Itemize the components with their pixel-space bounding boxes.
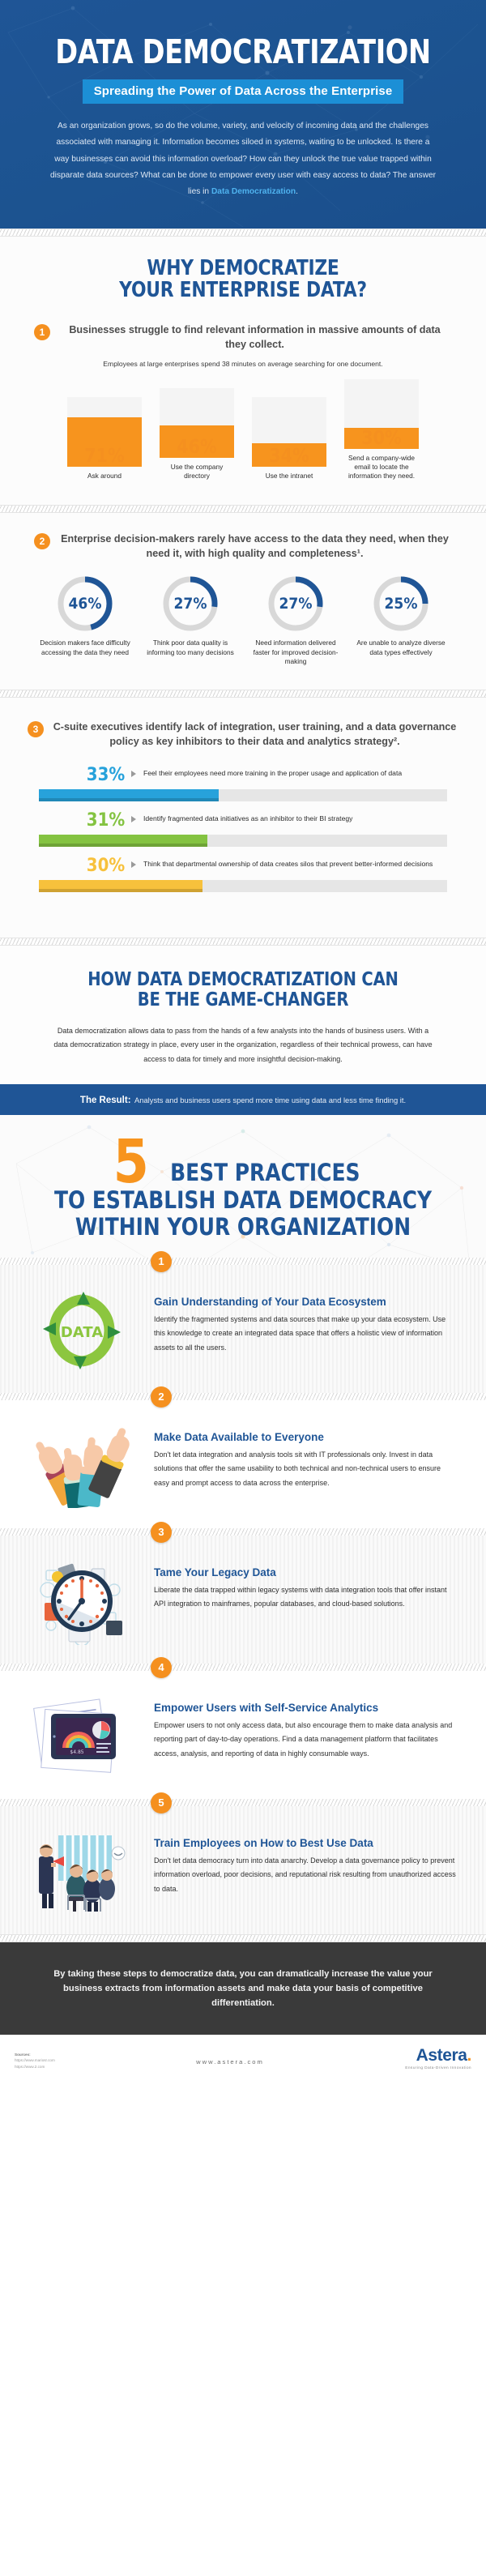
practice-number-badge-5: 5 — [151, 1792, 172, 1813]
hero-intro-highlight: Data Democratization — [211, 187, 296, 196]
practice-number-badge-3: 3 — [151, 1522, 172, 1543]
hbar-fill — [39, 835, 207, 847]
bar-column: 46% Use the company directory — [160, 388, 234, 481]
gc-heading-line1: HOW DATA DEMOCRATIZATION CAN — [87, 969, 398, 990]
bar-column: 71% Ask around — [67, 397, 142, 481]
divider-hatch — [0, 690, 486, 698]
why-heading-line2: YOUR ENTERPRISE DATA? — [119, 278, 367, 302]
practice-item-1: DATA Gain Understanding of Your Data Eco… — [0, 1265, 486, 1393]
donut-gauge: 27% — [266, 575, 325, 633]
hbar-track — [39, 789, 447, 801]
point-text-3: C-suite executives identify lack of inte… — [51, 720, 458, 750]
hero-subtitle: Spreading the Power of Data Across the E… — [83, 79, 404, 104]
practice-title-1: Gain Understanding of Your Data Ecosyste… — [154, 1296, 457, 1308]
game-changer-section: HOW DATA DEMOCRATIZATION CAN BE THE GAME… — [0, 946, 486, 1115]
best-practices-header-section: 5 BEST PRACTICES TO ESTABLISH DATA DEMOC… — [0, 1115, 486, 1257]
practice-text-4: Empower users to not only access data, b… — [154, 1719, 457, 1762]
csuite-inhibitors-section: 3 C-suite executives identify lack of in… — [0, 698, 486, 938]
practice-text-5: Don't let data democracy turn into data … — [154, 1854, 457, 1897]
hbar-value-label: 33% — [87, 766, 127, 785]
divider-hatch — [0, 229, 486, 237]
hero-intro-text-1: As an organization grows, so do the volu… — [50, 122, 436, 197]
training-presentation-icon — [21, 1827, 143, 1916]
donut-column: 25% Are unable to analyze diverse data t… — [353, 575, 449, 667]
point-note-1: Employees at large enterprises spend 38 … — [0, 360, 486, 368]
conclusion-section: By taking these steps to democratize dat… — [0, 1942, 486, 2035]
practice-text-2: Don't let data integration and analysis … — [154, 1448, 457, 1491]
bar-track: 34% — [252, 397, 326, 467]
practice-separator: 3 — [0, 1528, 486, 1536]
why-point-3: 3 C-suite executives identify lack of in… — [0, 720, 486, 750]
why-heading-line1: WHY DEMOCRATIZE — [147, 256, 339, 280]
practice-item-4: $4.85 Empower Users with Self-Service An… — [0, 1671, 486, 1799]
hbar-row: 30% Think that departmental ownership of… — [39, 857, 447, 892]
bar-value-label: 30% — [348, 428, 416, 449]
donut-category-label: Think poor data quality is informing too… — [143, 639, 238, 657]
decision-makers-section: 2 Enterprise decision-makers rarely have… — [0, 513, 486, 690]
practice-title-5: Train Employees on How to Best Use Data — [154, 1837, 457, 1849]
bar-category-label: Use the company directory — [160, 463, 234, 481]
brand-name: Astera. — [405, 2046, 471, 2065]
practice-title-3: Tame Your Legacy Data — [154, 1566, 457, 1578]
tablet-analytics-icon: $4.85 — [21, 1692, 143, 1781]
point-text-1: Businesses struggle to find relevant inf… — [58, 323, 452, 352]
triangle-marker-icon — [131, 771, 136, 777]
practice-separator: 5 — [0, 1799, 486, 1806]
result-text: Analysts and business users spend more t… — [134, 1096, 406, 1104]
hbar-description: Feel their employees need more training … — [143, 766, 402, 778]
divider-hatch — [0, 938, 486, 946]
practice-number-badge-4: 4 — [151, 1657, 172, 1678]
practice-text-1: Identify the fragmented systems and data… — [154, 1313, 457, 1356]
practice-item-3: Tame Your Legacy Data Liberate the data … — [0, 1536, 486, 1664]
sources-block: Sources: https://www.mariosr.com https:/… — [15, 2052, 55, 2070]
point-number-badge-1: 1 — [34, 324, 50, 340]
point-text-2: Enterprise decision-makers rarely have a… — [58, 532, 452, 562]
triangle-marker-icon — [131, 861, 136, 868]
bar-track: 46% — [160, 388, 234, 458]
donut-category-label: Decision makers face difficulty accessin… — [37, 639, 133, 657]
bar-category-label: Ask around — [87, 472, 122, 481]
practice-number-badge-1: 1 — [151, 1251, 172, 1272]
practice-separator: 1 — [0, 1258, 486, 1265]
icon-center-label: DATA — [61, 1324, 103, 1341]
best-practices-heading-best: BEST PRACTICES — [171, 1161, 360, 1186]
bar-track: 71% — [67, 397, 142, 467]
source-link-2[interactable]: https://www.2.com — [15, 2064, 55, 2070]
hbar-fill — [39, 789, 219, 801]
practice-separator: 2 — [0, 1393, 486, 1400]
thumbs-up-hands-icon — [21, 1421, 143, 1510]
hbar-description: Think that departmental ownership of dat… — [143, 857, 433, 869]
donut-category-label: Need information delivered faster for im… — [248, 639, 343, 667]
donut-column: 27% Need information delivered faster fo… — [248, 575, 343, 667]
infographic-page: DATA DEMOCRATIZATION Spreading the Power… — [0, 0, 486, 2083]
donut-gauge: 27% — [161, 575, 220, 633]
point-number-badge-3: 3 — [28, 721, 44, 737]
practice-item-2: Make Data Available to Everyone Don't le… — [0, 1400, 486, 1528]
data-recycle-arrows-icon: DATA — [21, 1286, 143, 1375]
hero-section: DATA DEMOCRATIZATION Spreading the Power… — [0, 0, 486, 229]
source-link-1[interactable]: https://www.mariosr.com — [15, 2057, 55, 2064]
brand-logo: Astera. Ensuring Data-Driven Innovation — [405, 2046, 471, 2070]
clock-legacy-icon — [21, 1557, 143, 1646]
search-methods-bar-chart: 71% Ask around 46% Use the company direc… — [0, 379, 486, 481]
bar-value-label: 46% — [164, 437, 231, 458]
brand-tagline: Ensuring Data-Driven Innovation — [405, 2066, 471, 2070]
footer-website-url[interactable]: www.astera.com — [196, 2058, 264, 2070]
game-changer-paragraph: Data democratization allows data to pass… — [53, 1024, 433, 1067]
best-practices-big-number: 5 — [113, 1139, 149, 1186]
why-democratize-section: WHY DEMOCRATIZE YOUR ENTERPRISE DATA? 1 … — [0, 237, 486, 505]
page-title: DATA DEMOCRATIZATION — [44, 36, 442, 70]
donut-value-label: 27% — [164, 575, 217, 633]
best-practices-heading-line3: WITHIN YOUR ORGANIZATION — [34, 1215, 452, 1240]
triangle-marker-icon — [131, 816, 136, 822]
why-heading: WHY DEMOCRATIZE YOUR ENTERPRISE DATA? — [39, 258, 447, 302]
best-practices-heading-line2: TO ESTABLISH DATA DEMOCRACY — [34, 1188, 452, 1213]
hbar-description: Identify fragmented data initiatives as … — [143, 811, 352, 823]
hbar-value-label: 31% — [87, 811, 127, 831]
best-practices-heading: 5 BEST PRACTICES TO ESTABLISH DATA DEMOC… — [0, 1139, 486, 1239]
hbar-row: 33% Feel their employees need more train… — [39, 766, 447, 801]
donut-column: 27% Think poor data quality is informing… — [143, 575, 238, 667]
hbar-track — [39, 880, 447, 892]
donut-value-label: 46% — [59, 575, 112, 633]
bar-category-label: Send a company-wide email to locate the … — [344, 454, 419, 481]
divider-hatch — [0, 1934, 486, 1942]
divider-hatch — [0, 505, 486, 513]
practice-item-5: Train Employees on How to Best Use Data … — [0, 1806, 486, 1934]
conclusion-text: By taking these steps to democratize dat… — [44, 1967, 442, 2010]
donut-gauge: 46% — [56, 575, 114, 633]
practice-title-2: Make Data Available to Everyone — [154, 1431, 457, 1443]
bar-value-label: 34% — [256, 446, 323, 467]
gc-heading-line2: BE THE GAME-CHANGER — [138, 989, 348, 1010]
footer: Sources: https://www.mariosr.com https:/… — [0, 2035, 486, 2083]
result-callout-bar: The Result: Analysts and business users … — [0, 1084, 486, 1115]
bar-value-label: 71% — [71, 446, 139, 467]
bar-column: 30% Send a company-wide email to locate … — [344, 379, 419, 481]
practice-title-4: Empower Users with Self-Service Analytic… — [154, 1702, 457, 1714]
sources-title: Sources: — [15, 2052, 55, 2058]
donut-value-label: 27% — [270, 575, 322, 633]
point-number-badge-2: 2 — [34, 533, 50, 549]
brand-name-text: Astera — [416, 2046, 467, 2065]
hbar-value-label: 30% — [87, 857, 127, 876]
practice-separator: 4 — [0, 1664, 486, 1671]
svg-text:$4.85: $4.85 — [70, 1749, 83, 1755]
hbar-fill — [39, 880, 202, 892]
donut-gauge: 25% — [372, 575, 430, 633]
inhibitors-horizontal-bar-chart: 33% Feel their employees need more train… — [0, 763, 486, 893]
bar-category-label: Use the intranet — [266, 472, 313, 481]
game-changer-heading: HOW DATA DEMOCRATIZATION CAN BE THE GAME… — [36, 970, 450, 1011]
hero-intro-paragraph: As an organization grows, so do the volu… — [49, 118, 437, 201]
why-point-1: 1 Businesses struggle to find relevant i… — [0, 323, 486, 352]
decision-maker-donut-chart: 46% Decision makers face difficulty acce… — [0, 575, 486, 667]
hero-intro-text-2: . — [296, 187, 298, 196]
bar-column: 34% Use the intranet — [252, 397, 326, 481]
practice-text-3: Liberate the data trapped within legacy … — [154, 1583, 457, 1612]
why-point-2: 2 Enterprise decision-makers rarely have… — [0, 532, 486, 562]
donut-value-label: 25% — [375, 575, 428, 633]
donut-category-label: Are unable to analyze diverse data types… — [353, 639, 449, 657]
result-label: The Result: — [80, 1096, 131, 1105]
practice-number-badge-2: 2 — [151, 1386, 172, 1408]
hbar-row: 31% Identify fragmented data initiatives… — [39, 811, 447, 847]
bar-track: 30% — [344, 379, 419, 449]
hbar-track — [39, 835, 447, 847]
donut-column: 46% Decision makers face difficulty acce… — [37, 575, 133, 667]
